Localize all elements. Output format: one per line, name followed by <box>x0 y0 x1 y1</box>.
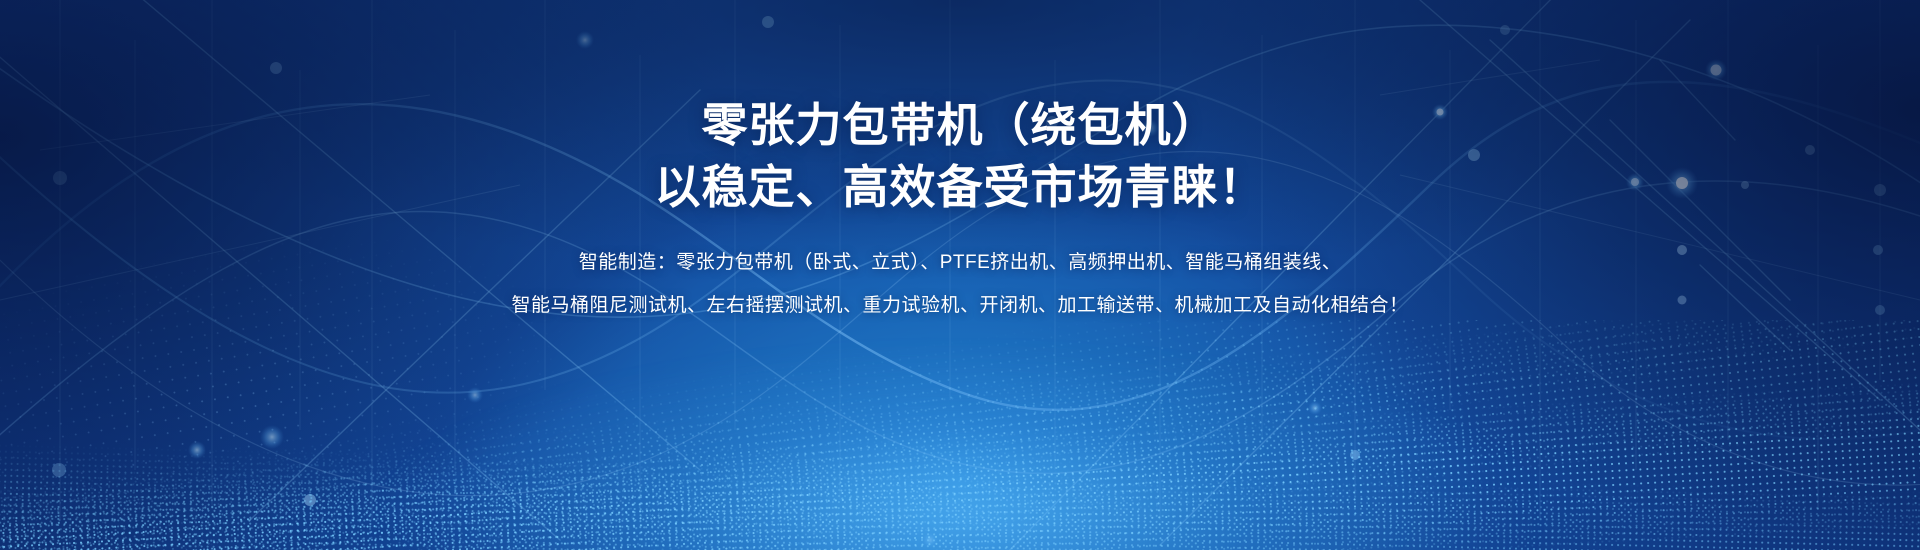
headline-line-1: 零张力包带机（绕包机） <box>702 96 1219 156</box>
headline-line-2: 以稳定、高效备受市场青睐！ <box>655 158 1266 218</box>
subtitle-line-2: 智能马桶阻尼测试机、左右摇摆测试机、重力试验机、开闭机、加工输送带、机械加工及自… <box>511 287 1408 326</box>
banner-content: 零张力包带机（绕包机） 以稳定、高效备受市场青睐！ 智能制造：零张力包带机（卧式… <box>0 0 1920 550</box>
subtitle-line-1: 智能制造：零张力包带机（卧式、立式）、PTFE挤出机、高频押出机、智能马桶组装线… <box>579 244 1342 283</box>
hero-banner: 零张力包带机（绕包机） 以稳定、高效备受市场青睐！ 智能制造：零张力包带机（卧式… <box>0 0 1920 550</box>
